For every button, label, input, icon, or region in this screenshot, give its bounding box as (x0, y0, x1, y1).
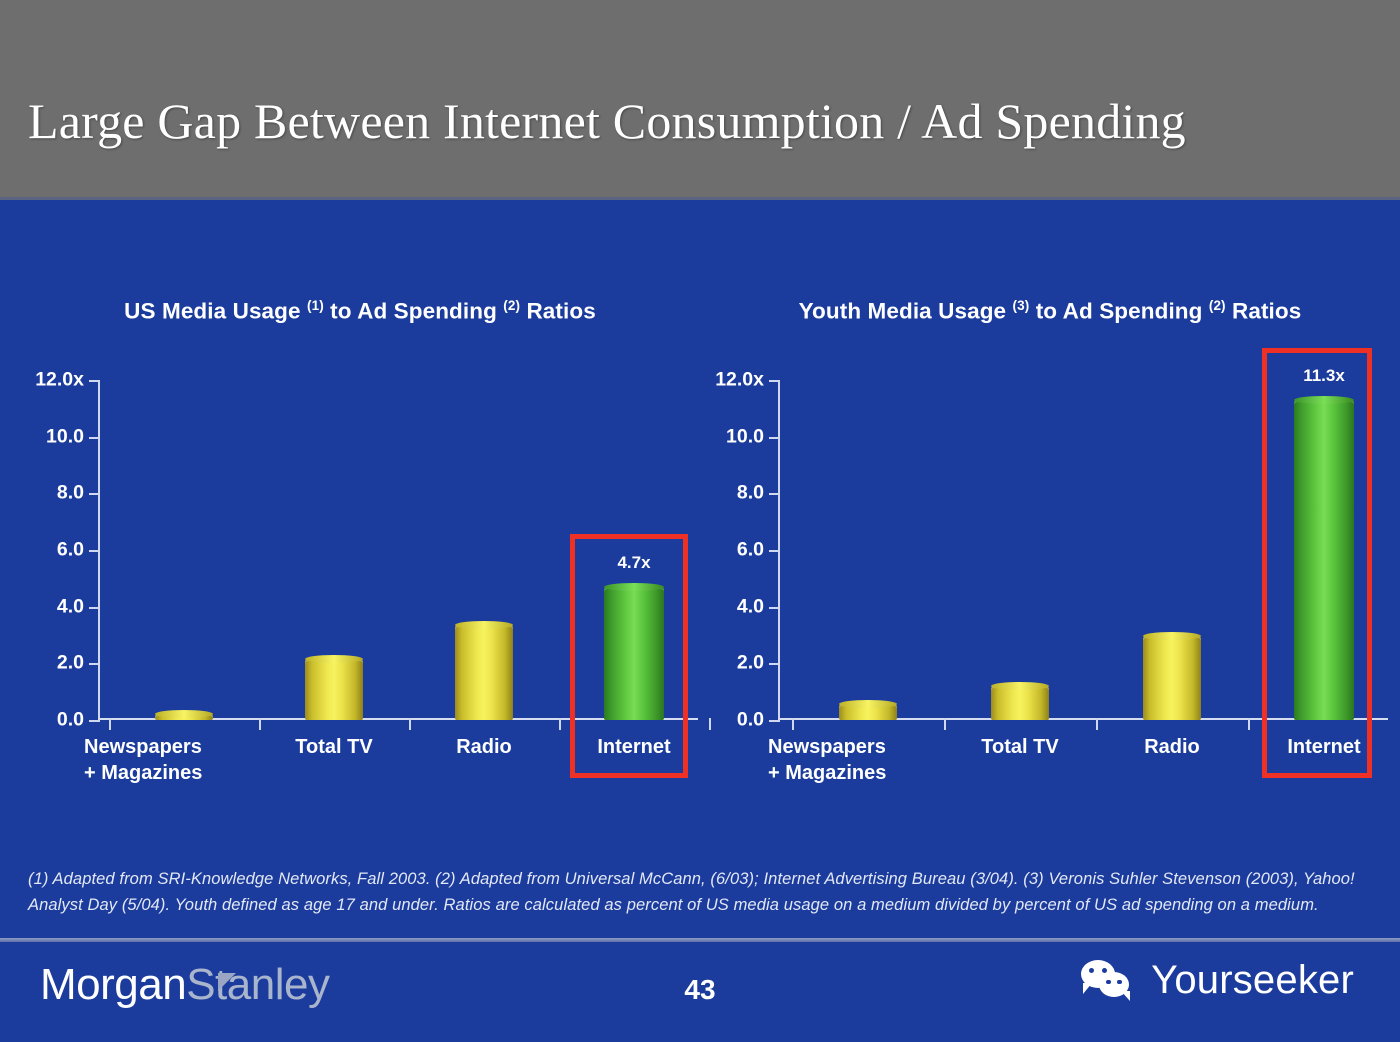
chart-title-text: Youth Media Usage (799, 299, 1013, 324)
chart-title-text: Ratios (520, 299, 596, 324)
x-axis-tick (259, 718, 261, 730)
bar-value-label: 11.3x (1303, 366, 1345, 386)
x-axis-category-label: Total TV (295, 734, 372, 760)
y-axis-tick-label: 8.0 (57, 482, 84, 505)
bar-slot: Total TV (944, 380, 1096, 720)
bar-cap (604, 583, 664, 591)
footnote-marker-3: (3) (1013, 298, 1030, 313)
bar-internet (604, 587, 664, 720)
x-axis-category-label: Radio (456, 734, 512, 760)
chart-title-text: Ratios (1226, 299, 1302, 324)
x-axis-category-label: Total TV (981, 734, 1058, 760)
bar-newspapers-magazines (155, 714, 213, 720)
chart-panel-us-media: US Media Usage (1) to Ad Spending (2) Ra… (10, 210, 710, 800)
x-axis-tick (109, 718, 111, 730)
bar-slot: 4.7xInternet (559, 380, 709, 720)
x-axis-category-label: Newspapers+ Magazines (84, 734, 284, 786)
y-axis-tick-label: 2.0 (737, 652, 764, 675)
bar-slot: Radio (409, 380, 559, 720)
y-axis-tick-label: 10.0 (46, 425, 84, 448)
bar-total-tv (991, 686, 1049, 720)
bar-total-tv (305, 659, 363, 720)
y-axis-tick-label: 4.0 (737, 595, 764, 618)
y-axis-tick-label: 0.0 (57, 709, 84, 732)
y-axis-tick-label: 6.0 (737, 539, 764, 562)
watermark-label: Yourseeker (1151, 958, 1354, 1003)
bar-radio (455, 625, 513, 720)
footnote-text: (1) Adapted from SRI-Knowledge Networks,… (28, 866, 1376, 918)
y-axis-tick-label: 12.0x (35, 369, 84, 392)
slide: Large Gap Between Internet Consumption /… (0, 0, 1400, 1042)
bar-cap (1143, 632, 1201, 640)
chart-panel-youth-media: Youth Media Usage (3) to Ad Spending (2)… (700, 210, 1400, 800)
chart-title-text: to Ad Spending (324, 299, 504, 324)
header-divider (0, 197, 1400, 200)
chart-title-youth-media: Youth Media Usage (3) to Ad Spending (2)… (700, 288, 1400, 330)
x-axis-tick (409, 718, 411, 730)
y-axis-tick (89, 720, 100, 722)
chart-title-us-media: US Media Usage (1) to Ad Spending (2) Ra… (10, 288, 710, 330)
chart-title-text: US Media Usage (124, 299, 307, 324)
watermark: Yourseeker (1081, 958, 1354, 1003)
x-axis-tick (1096, 718, 1098, 730)
bar-cap (991, 682, 1049, 690)
footnote-marker-1: (1) (307, 298, 324, 313)
slide-header: Large Gap Between Internet Consumption /… (0, 0, 1400, 200)
bar-cap (455, 621, 513, 629)
y-axis-tick-label: 0.0 (737, 709, 764, 732)
x-axis-tick (944, 718, 946, 730)
bar-newspapers-magazines (839, 704, 897, 720)
page-title: Large Gap Between Internet Consumption /… (28, 92, 1378, 150)
bar-value-label: 4.7x (617, 553, 650, 573)
y-axis-tick-label: 2.0 (57, 652, 84, 675)
slide-footer: MorganStanley 43 Yourseeker (0, 944, 1400, 1042)
y-axis-tick-label: 6.0 (57, 539, 84, 562)
bar-slot: Total TV (259, 380, 409, 720)
bar-slot: Radio (1096, 380, 1248, 720)
bar-cap (155, 710, 213, 718)
chart-title-text: to Ad Spending (1029, 299, 1209, 324)
bar-slot: 11.3xInternet (1248, 380, 1400, 720)
x-axis-tick (792, 718, 794, 730)
y-axis-tick-label: 10.0 (726, 425, 764, 448)
plot-area-us-media: 0.02.04.06.08.010.012.0x Newspapers+ Mag… (98, 370, 698, 730)
x-axis-category-label: Radio (1144, 734, 1200, 760)
x-axis-category-label: Newspapers+ Magazines (768, 734, 968, 786)
y-axis-tick-label: 12.0x (715, 369, 764, 392)
x-axis-category-label: Internet (1287, 734, 1360, 760)
y-axis-tick-label: 4.0 (57, 595, 84, 618)
bar-group-youth-media: Newspapers+ MagazinesTotal TVRadio11.3xI… (778, 380, 1388, 720)
bar-slot: Newspapers+ Magazines (792, 380, 944, 720)
bar-cap (305, 655, 363, 663)
bar-cap (839, 700, 897, 708)
x-axis-tick (1248, 718, 1250, 730)
bar-internet (1294, 400, 1354, 720)
bar-cap (1294, 396, 1354, 404)
footnote-marker-2: (2) (1209, 298, 1226, 313)
wechat-icon (1081, 960, 1137, 1002)
bar-group-us-media: Newspapers+ MagazinesTotal TVRadio4.7xIn… (98, 380, 698, 720)
x-axis-category-label: Internet (597, 734, 670, 760)
plot-area-youth-media: 0.02.04.06.08.010.012.0x Newspapers+ Mag… (778, 370, 1388, 730)
footer-divider (0, 938, 1400, 942)
footnote-marker-2: (2) (503, 298, 520, 313)
y-axis-tick-label: 8.0 (737, 482, 764, 505)
bar-radio (1143, 636, 1201, 720)
y-axis-tick (769, 720, 780, 722)
bar-slot: Newspapers+ Magazines (109, 380, 259, 720)
x-axis-tick (559, 718, 561, 730)
